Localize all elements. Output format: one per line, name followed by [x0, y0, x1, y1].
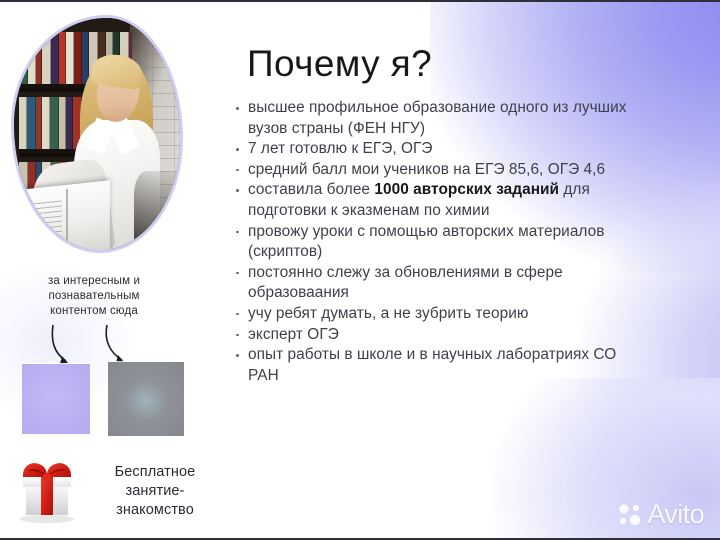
slide-root: за интересным и познавательным контентом… — [0, 0, 720, 540]
benefit-highlight: 1000 авторских заданий — [374, 181, 559, 198]
qr-code-right[interactable] — [108, 362, 184, 436]
benefit-text: средний балл мои учеников на ЕГЭ 85,6, О… — [248, 161, 605, 178]
benefit-text: постоянно слежу за обновлениями в сфере … — [248, 264, 563, 302]
arrow-right-curve — [106, 325, 122, 360]
benefit-item: учу ребят думать, а не зубрить теорию — [234, 304, 634, 325]
free-lesson-line-1: Бесплатное — [90, 463, 220, 482]
free-lesson-line-3: знакомство — [90, 501, 220, 520]
benefit-item: высшее профильное образование одного из … — [234, 98, 634, 139]
benefits-list: высшее профильное образование одного из … — [234, 98, 634, 386]
page-title: Почему я? — [247, 42, 432, 86]
photo-scene — [14, 18, 180, 250]
benefit-item: провожу уроки с помощью авторских матери… — [234, 222, 634, 263]
benefit-text: составила более — [248, 181, 374, 198]
benefit-text: опыт работы в школе и в научных лаборатр… — [248, 346, 616, 384]
free-lesson-line-2: занятие- — [90, 482, 220, 501]
qr-caption-line-1: за интересным и — [8, 274, 180, 289]
avito-wordmark: Avito — [647, 501, 704, 528]
tutor-photo — [14, 18, 180, 250]
gift-box-icon — [10, 457, 84, 525]
avito-dots-icon — [618, 502, 644, 528]
qr-caption-line-3: контентом сюда — [8, 304, 180, 319]
photo-shadow-corner — [134, 171, 177, 250]
benefit-item: эксперт ОГЭ — [234, 325, 634, 346]
benefit-item: постоянно слежу за обновлениями в сфере … — [234, 263, 634, 304]
arrow-left-curve — [52, 325, 66, 361]
benefit-text: учу ребят думать, а не зубрить теорию — [248, 305, 528, 322]
benefit-text: высшее профильное образование одного из … — [248, 99, 626, 137]
avito-watermark: Avito — [618, 501, 704, 528]
qr-code-left[interactable] — [22, 364, 90, 434]
benefit-item: средний балл мои учеников на ЕГЭ 85,6, О… — [234, 160, 634, 181]
benefit-text: провожу уроки с помощью авторских матери… — [248, 223, 604, 261]
benefit-item: составила более 1000 авторских заданий д… — [234, 180, 634, 221]
free-lesson-block: Бесплатное занятие- знакомство — [10, 457, 220, 525]
benefit-item: 7 лет готовлю к ЕГЭ, ОГЭ — [234, 139, 634, 160]
benefit-item: опыт работы в школе и в научных лаборатр… — [234, 345, 634, 386]
book-text-lines — [31, 198, 62, 250]
open-book — [24, 180, 110, 250]
free-lesson-text: Бесплатное занятие- знакомство — [90, 463, 220, 520]
benefit-text: эксперт ОГЭ — [248, 326, 339, 343]
photo-blob-mask — [14, 18, 180, 250]
benefit-text: 7 лет готовлю к ЕГЭ, ОГЭ — [248, 140, 433, 157]
qr-caption: за интересным и познавательным контентом… — [8, 274, 180, 319]
qr-caption-line-2: познавательным — [8, 289, 180, 304]
